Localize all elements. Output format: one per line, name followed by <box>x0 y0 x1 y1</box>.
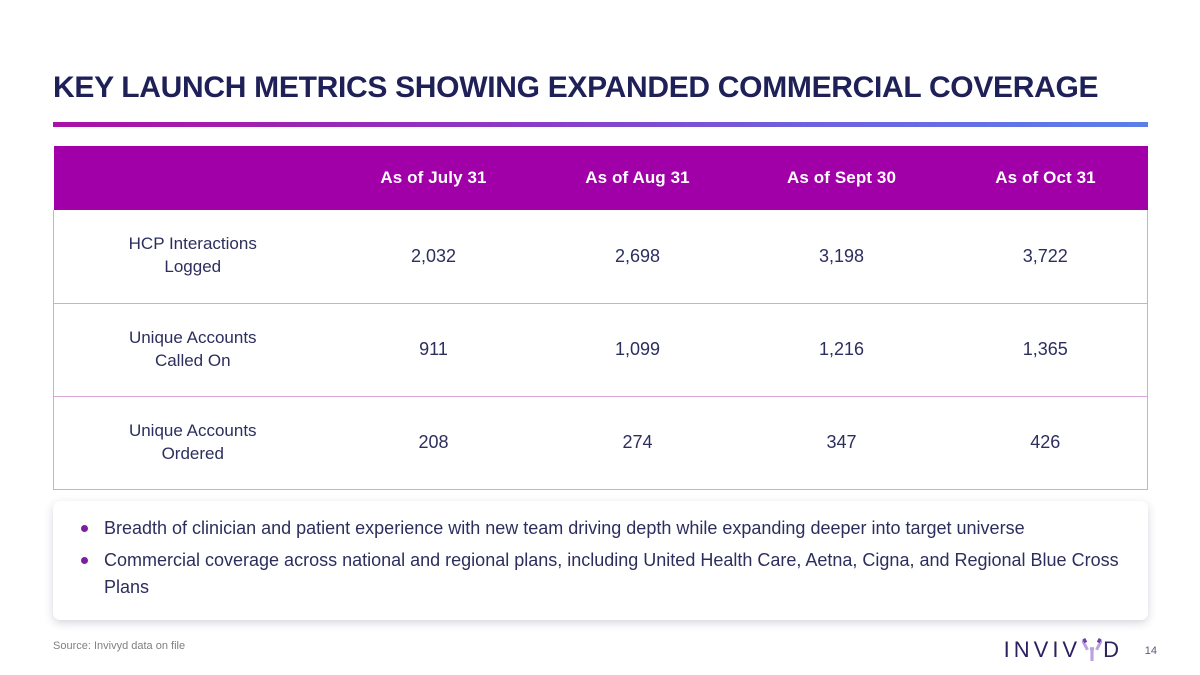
logo-text-after: D <box>1103 637 1123 663</box>
cell-called-aug: 1,099 <box>536 303 740 396</box>
title-gradient-rule <box>53 122 1148 127</box>
logo-text-before: INVIV <box>1004 637 1081 663</box>
cell-called-july: 911 <box>332 303 536 396</box>
source-note: Source: Invivyd data on file <box>53 640 185 652</box>
cell-hcp-sept: 3,198 <box>740 210 944 303</box>
table-row: Unique Accounts Called On 911 1,099 1,21… <box>54 303 1148 396</box>
bullet-dot-icon <box>81 525 88 532</box>
row-label-accounts-ordered: Unique Accounts Ordered <box>54 396 332 489</box>
page-number: 14 <box>1145 645 1157 657</box>
antibody-y-icon <box>1082 638 1102 662</box>
list-item: Breadth of clinician and patient experie… <box>75 515 1122 541</box>
cell-called-oct: 1,365 <box>944 303 1148 396</box>
column-header-metric <box>54 146 332 210</box>
page-title: KEY LAUNCH METRICS SHOWING EXPANDED COMM… <box>53 71 1098 105</box>
cell-hcp-oct: 3,722 <box>944 210 1148 303</box>
table-header-row: As of July 31 As of Aug 31 As of Sept 30… <box>54 146 1148 210</box>
cell-ordered-july: 208 <box>332 396 536 489</box>
row-label-line2: Called On <box>54 350 332 373</box>
column-header-oct: As of Oct 31 <box>944 146 1148 210</box>
column-header-aug: As of Aug 31 <box>536 146 740 210</box>
table-row: Unique Accounts Ordered 208 274 347 426 <box>54 396 1148 489</box>
row-label-hcp-interactions: HCP Interactions Logged <box>54 210 332 303</box>
takeaways-card: Breadth of clinician and patient experie… <box>53 501 1148 620</box>
metrics-table: As of July 31 As of Aug 31 As of Sept 30… <box>53 146 1148 490</box>
table-header: As of July 31 As of Aug 31 As of Sept 30… <box>54 146 1148 210</box>
row-label-line1: Unique Accounts <box>54 420 332 443</box>
row-label-line1: Unique Accounts <box>54 327 332 350</box>
row-label-accounts-called: Unique Accounts Called On <box>54 303 332 396</box>
bullet-dot-icon <box>81 557 88 564</box>
table-row: HCP Interactions Logged 2,032 2,698 3,19… <box>54 210 1148 303</box>
column-header-sept: As of Sept 30 <box>740 146 944 210</box>
cell-hcp-aug: 2,698 <box>536 210 740 303</box>
cell-called-sept: 1,216 <box>740 303 944 396</box>
slide-canvas: KEY LAUNCH METRICS SHOWING EXPANDED COMM… <box>0 0 1200 675</box>
bullet-text-2: Commercial coverage across national and … <box>104 547 1122 600</box>
cell-ordered-sept: 347 <box>740 396 944 489</box>
cell-ordered-oct: 426 <box>944 396 1148 489</box>
bullet-text-1: Breadth of clinician and patient experie… <box>104 515 1025 541</box>
list-item: Commercial coverage across national and … <box>75 547 1122 600</box>
column-header-july: As of July 31 <box>332 146 536 210</box>
table-body: HCP Interactions Logged 2,032 2,698 3,19… <box>54 210 1148 489</box>
cell-hcp-july: 2,032 <box>332 210 536 303</box>
row-label-line2: Logged <box>54 256 332 279</box>
invivyd-logo: INVIV D <box>1004 637 1123 663</box>
cell-ordered-aug: 274 <box>536 396 740 489</box>
row-label-line2: Ordered <box>54 443 332 466</box>
row-label-line1: HCP Interactions <box>54 233 332 256</box>
logo-wordmark: INVIV D <box>1004 637 1123 663</box>
